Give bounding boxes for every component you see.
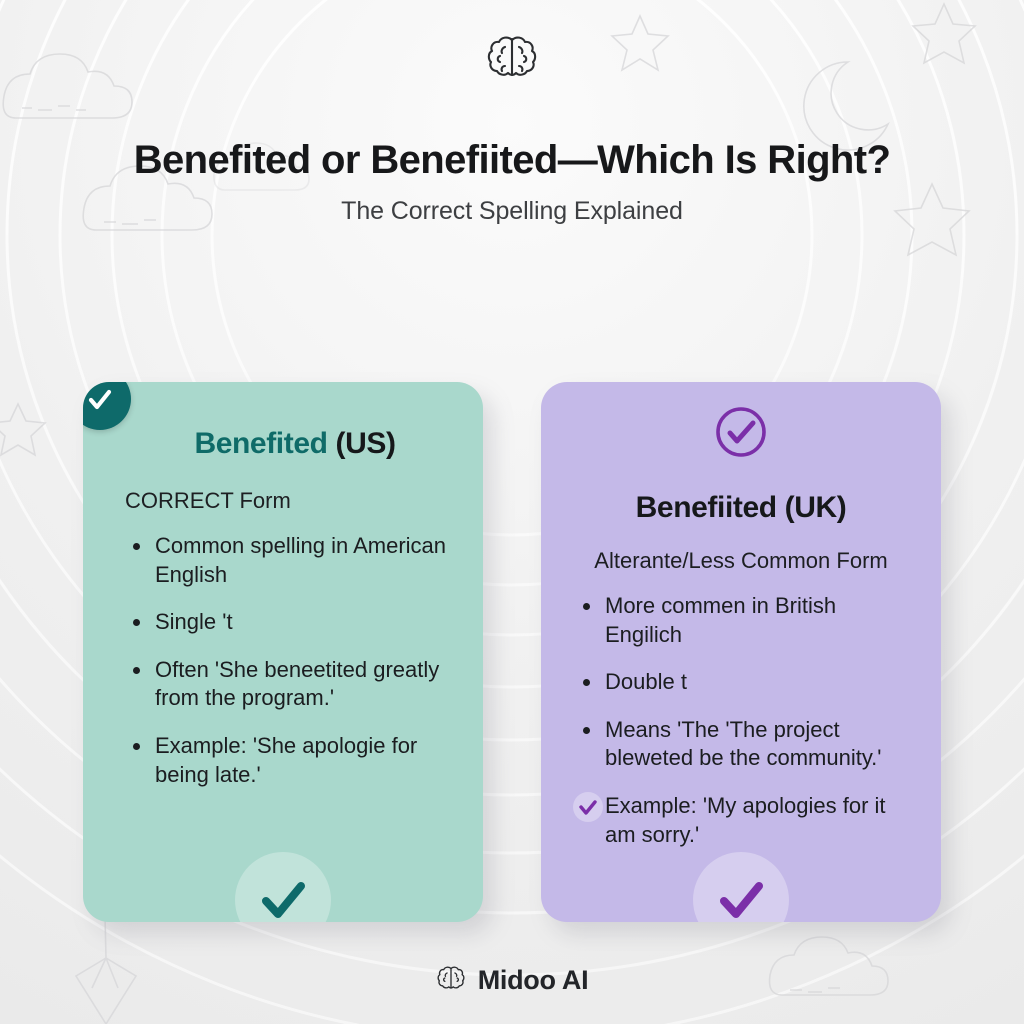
card-us-watermark-check-icon xyxy=(235,852,331,922)
list-item-text: Double t xyxy=(605,669,687,694)
card-uk: Benefiited (UK) Alterante/Less Common Fo… xyxy=(541,382,941,922)
list-item-text: Single 't xyxy=(155,609,233,634)
bullet-dot-icon xyxy=(133,743,140,750)
list-item: Example: 'She apologie for being late.' xyxy=(125,732,449,789)
list-item: Common spelling in American English xyxy=(125,532,449,589)
page-title: Benefited or Benefiited—Which Is Right? xyxy=(0,137,1024,183)
bullet-dot-icon xyxy=(133,619,140,626)
bullet-check-icon xyxy=(573,792,603,822)
list-item-text: More commen in British Engilich xyxy=(605,593,836,647)
card-uk-subtitle: Alterante/Less Common Form xyxy=(575,548,907,574)
list-item-text: Example: 'She apologie for being late.' xyxy=(155,733,417,787)
card-us-bullet-list: Common spelling in American English Sing… xyxy=(117,532,449,789)
list-item-text: Common spelling in American English xyxy=(155,533,446,587)
card-us: Benefited (US) CORRECT Form Common spell… xyxy=(83,382,483,922)
card-us-subtitle: CORRECT Form xyxy=(117,488,449,514)
list-item: Often 'She beneetited greatly from the p… xyxy=(125,656,449,713)
card-uk-bullet-list: More commen in British Engilich Double t… xyxy=(575,592,907,849)
bullet-dot-icon xyxy=(583,727,590,734)
comparison-cards: Benefited (US) CORRECT Form Common spell… xyxy=(0,382,1024,922)
card-uk-title: Benefiited (UK) xyxy=(575,490,907,526)
list-item: Single 't xyxy=(125,608,449,637)
brand-name: Midoo AI xyxy=(478,965,589,996)
list-item: More commen in British Engilich xyxy=(575,592,907,649)
check-circle-outline-icon xyxy=(713,404,769,460)
header: Benefited or Benefiited—Which Is Right? … xyxy=(0,0,1024,226)
list-item: Double t xyxy=(575,668,907,697)
card-us-title: Benefited (US) xyxy=(117,426,449,462)
footer-brand: Midoo AI xyxy=(0,965,1024,996)
list-item-text: Often 'She beneetited greatly from the p… xyxy=(155,657,439,711)
card-uk-title-rest: Benefiited (UK) xyxy=(636,491,847,524)
card-us-title-rest: (US) xyxy=(328,427,396,460)
bullet-dot-icon xyxy=(583,603,590,610)
brain-icon xyxy=(485,34,539,80)
bullet-dot-icon xyxy=(583,679,590,686)
list-item: Example: 'My apologies for it am sorry.' xyxy=(575,792,907,849)
bullet-dot-icon xyxy=(133,667,140,674)
list-item: Means 'The 'The project bleweted be the … xyxy=(575,716,907,773)
card-us-title-highlight: Benefited xyxy=(194,427,327,460)
bullet-dot-icon xyxy=(133,543,140,550)
check-circle-filled-icon xyxy=(83,382,131,430)
page-subtitle: The Correct Spelling Explained xyxy=(0,197,1024,226)
infographic-page: Benefited or Benefiited—Which Is Right? … xyxy=(0,0,1024,1024)
card-uk-watermark-check-icon xyxy=(693,852,789,922)
brain-icon xyxy=(436,965,466,996)
list-item-text: Example: 'My apologies for it am sorry.' xyxy=(605,793,886,847)
list-item-text: Means 'The 'The project bleweted be the … xyxy=(605,717,882,771)
